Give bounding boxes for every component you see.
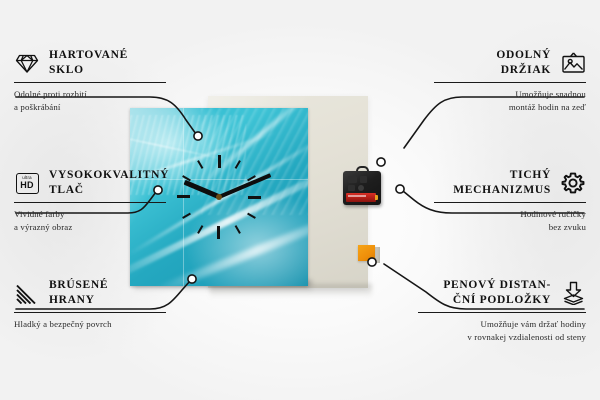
feature-edges-divider [14, 312, 166, 313]
feature-glass-title: HARTOVANÉ SKLO [49, 48, 128, 78]
feature-print-divider [14, 202, 166, 203]
feature-print-title: VYSOKOKVALITNÝ TLAČ [49, 168, 169, 198]
mechanism-detail [348, 185, 355, 191]
feature-edges: BRÚSENÉ HRANY Hladký a bezpečný povrch [14, 278, 166, 331]
feature-mechanism: TICHÝ MECHANIZMUS Hodinové ručičky bez z… [434, 168, 586, 233]
feature-foam-divider [418, 312, 586, 313]
feature-foam-description: Umožňuje vám držať hodiny v rovnakej vzd… [418, 318, 586, 343]
picture-frame-icon [560, 51, 586, 75]
feature-edges-title: BRÚSENÉ HRANY [49, 278, 108, 308]
ultra-hd-main-text: HD [20, 181, 33, 190]
feature-edges-description: Hladký a bezpečný povrch [14, 318, 166, 330]
battery-label [348, 195, 366, 197]
feature-foam-header: PENOVÝ DISTAN- ČNÍ PODLOŽKY [418, 278, 586, 308]
mechanism-shaft [358, 185, 364, 191]
clock-mechanism [343, 171, 381, 205]
battery [346, 193, 376, 202]
feature-foam: PENOVÝ DISTAN- ČNÍ PODLOŽKY Umožňuje vám… [418, 278, 586, 343]
feature-holder-description: Umožňuje snadnou montáž hodin na zeď [434, 88, 586, 113]
arrow-down-stack-icon [560, 281, 586, 305]
feature-holder: ODOLNÝ DRŽIAK Umožňuje snadnou montáž ho… [434, 48, 586, 113]
gear-icon [560, 171, 586, 195]
clock-center-cap [216, 194, 222, 200]
feature-glass: HARTOVANÉ SKLO Odolné proti rozbití a po… [14, 48, 166, 113]
feature-mechanism-title: TICHÝ MECHANIZMUS [453, 168, 551, 198]
foam-spacer-pad [358, 245, 375, 261]
feature-print-header: ultra HD VYSOKOKVALITNÝ TLAČ [14, 168, 166, 198]
feature-foam-title: PENOVÝ DISTAN- ČNÍ PODLOŽKY [443, 278, 551, 308]
feature-glass-header: HARTOVANÉ SKLO [14, 48, 166, 78]
diamond-icon [14, 51, 40, 75]
feature-holder-title: ODOLNÝ DRŽIAK [496, 48, 551, 78]
feature-print-description: Vividné farby a výrazný obraz [14, 208, 166, 233]
feature-edges-header: BRÚSENÉ HRANY [14, 278, 166, 308]
foam-pad-side [375, 247, 380, 263]
feature-mechanism-divider [434, 202, 586, 203]
foam-pad-top [358, 245, 375, 261]
feature-mechanism-description: Hodinové ručičky bez zvuku [434, 208, 586, 233]
feature-holder-divider [434, 82, 586, 83]
feature-glass-description: Odolné proti rozbití a poškrábání [14, 88, 166, 113]
product-scene [130, 98, 370, 303]
feature-mechanism-header: TICHÝ MECHANIZMUS [434, 168, 586, 198]
ultra-hd-badge: ultra HD [16, 173, 39, 194]
mechanism-detail [360, 176, 367, 183]
infographic-canvas: HARTOVANÉ SKLO Odolné proti rozbití a po… [0, 0, 600, 400]
feature-glass-divider [14, 82, 166, 83]
mechanism-detail [348, 176, 357, 183]
feature-print: ultra HD VYSOKOKVALITNÝ TLAČ Vividné far… [14, 168, 166, 233]
mechanism-body [343, 171, 381, 205]
beveled-edge-icon [14, 281, 40, 305]
ultra-hd-icon: ultra HD [14, 171, 40, 195]
feature-holder-header: ODOLNÝ DRŽIAK [434, 48, 586, 78]
